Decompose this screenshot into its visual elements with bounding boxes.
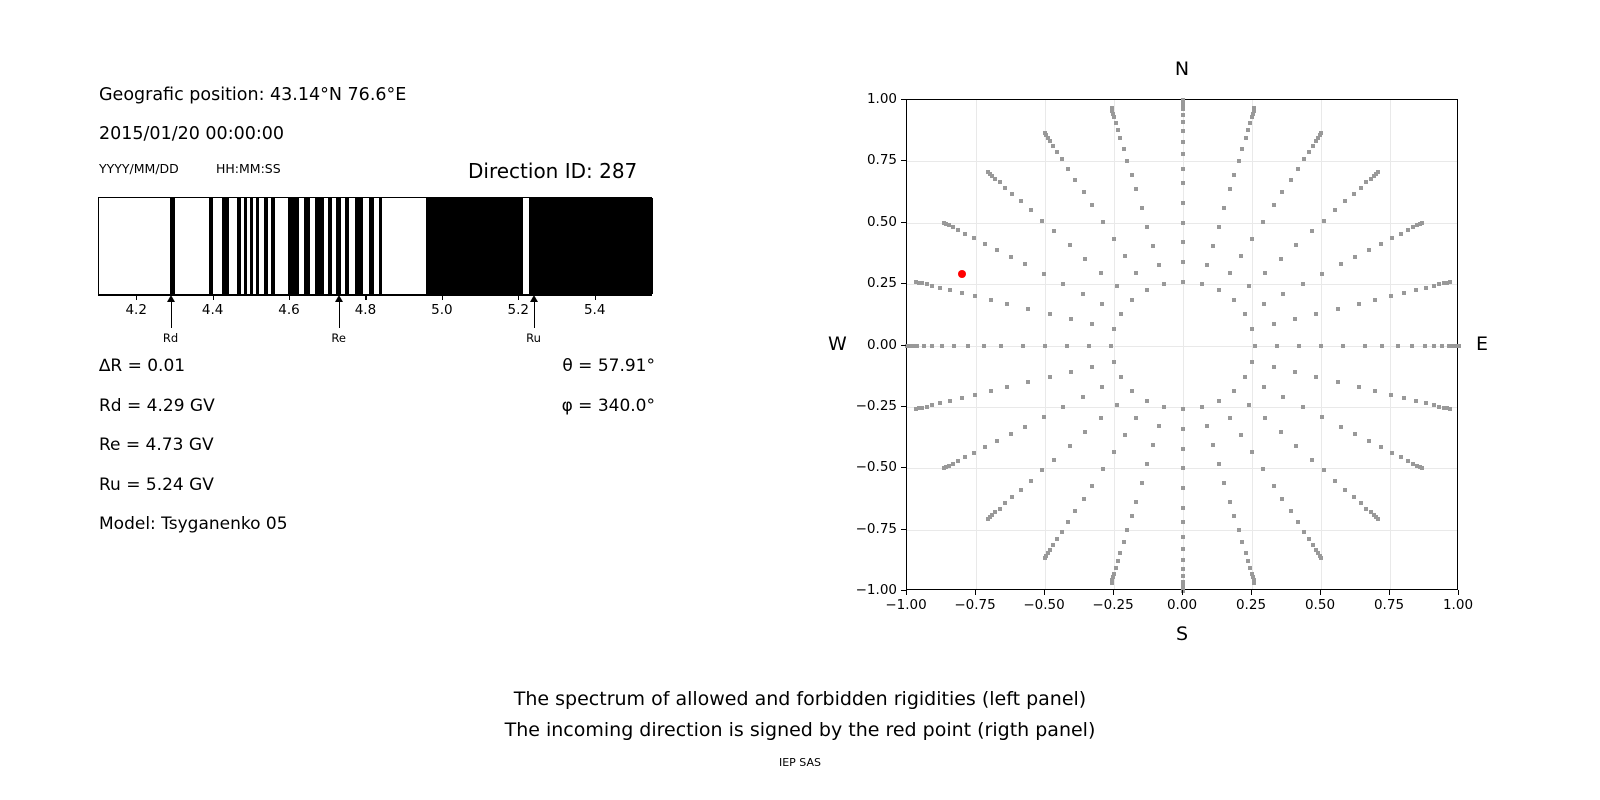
- direction-point: [963, 455, 967, 459]
- spectrum-x-tick-label: 5.0: [431, 302, 452, 318]
- direction-point: [1240, 540, 1244, 544]
- direction-point: [1406, 228, 1410, 232]
- rigidity-spectrum-plot: [98, 197, 652, 295]
- direction-point: [1420, 221, 1424, 225]
- direction-point: [1026, 307, 1030, 311]
- direction-point: [1068, 243, 1072, 247]
- direction-point: [930, 284, 934, 288]
- map-x-tick: [1044, 590, 1045, 595]
- direction-point: [1424, 401, 1428, 405]
- direction-point: [1181, 547, 1185, 551]
- direction-point: [1339, 262, 1343, 266]
- direction-point: [956, 459, 960, 463]
- direction-point: [1162, 405, 1166, 409]
- direction-point: [1181, 574, 1185, 578]
- direction-point: [1232, 389, 1236, 393]
- spectrum-x-tick-label: 4.8: [355, 302, 376, 318]
- direction-point: [1114, 121, 1118, 125]
- direction-point: [1320, 415, 1324, 419]
- spectrum-x-tick: [136, 295, 137, 300]
- direction-point: [1181, 486, 1185, 490]
- direction-point: [995, 439, 999, 443]
- parameter-item: Re = 4.73 GV: [99, 435, 214, 455]
- direction-point: [1314, 312, 1318, 316]
- direction-point: [1217, 288, 1221, 292]
- direction-point: [1432, 403, 1436, 407]
- map-y-tick-label: 0.25: [867, 275, 897, 291]
- direction-point: [1181, 140, 1185, 144]
- direction-point: [1272, 484, 1276, 488]
- direction-point: [1248, 121, 1252, 125]
- forbidden-band: [529, 198, 653, 294]
- direction-point: [1069, 317, 1073, 321]
- map-x-tick-label: −0.25: [1092, 597, 1133, 613]
- direction-point: [1250, 360, 1254, 364]
- direction-point: [1090, 484, 1094, 488]
- map-y-tick-label: 0.50: [867, 214, 897, 230]
- map-x-tick-label: −0.75: [954, 597, 995, 613]
- direction-point: [999, 344, 1003, 348]
- direction-point: [1319, 344, 1323, 348]
- forbidden-band: [256, 198, 259, 294]
- direction-point: [973, 294, 977, 298]
- direction-point: [1357, 385, 1361, 389]
- direction-point: [1205, 263, 1209, 267]
- direction-point: [1181, 447, 1185, 451]
- forbidden-band: [345, 198, 349, 294]
- direction-point: [1281, 292, 1285, 296]
- direction-point: [1162, 282, 1166, 286]
- direction-point: [1250, 450, 1254, 454]
- direction-point: [1289, 509, 1293, 513]
- marker-label-re: Re: [331, 331, 346, 345]
- forbidden-band: [315, 198, 325, 294]
- compass-east-label: E: [1476, 333, 1488, 355]
- map-x-tick: [1389, 590, 1390, 595]
- direction-point: [1297, 344, 1301, 348]
- direction-point: [1402, 396, 1406, 400]
- direction-id-label: Direction ID: 287: [468, 159, 637, 183]
- direction-point: [1314, 139, 1318, 143]
- direction-point: [1250, 237, 1254, 241]
- direction-point: [1222, 481, 1226, 485]
- direction-point: [930, 344, 934, 348]
- direction-point: [1055, 150, 1059, 154]
- direction-point: [1021, 344, 1025, 348]
- direction-point: [1123, 433, 1127, 437]
- direction-point: [1399, 455, 1403, 459]
- direction-point: [1432, 284, 1436, 288]
- marker-arrow-head: [335, 295, 343, 302]
- direction-point: [1250, 115, 1254, 119]
- direction-point: [989, 389, 993, 393]
- forbidden-band: [336, 198, 341, 294]
- direction-point: [1246, 559, 1250, 563]
- direction-point: [1055, 537, 1059, 541]
- direction-point: [1211, 244, 1215, 248]
- direction-point: [1122, 540, 1126, 544]
- direction-point: [1157, 263, 1161, 267]
- direction-point: [914, 407, 918, 411]
- direction-point: [1247, 284, 1251, 288]
- direction-point: [1232, 173, 1236, 177]
- direction-point: [1253, 344, 1257, 348]
- map-x-tick: [1113, 590, 1114, 595]
- marker-label-ru: Ru: [526, 331, 541, 345]
- direction-point: [1448, 280, 1452, 284]
- direction-point: [1250, 327, 1254, 331]
- direction-point: [925, 282, 929, 286]
- map-x-tick: [1458, 590, 1459, 595]
- direction-point: [998, 180, 1002, 184]
- map-y-tick: [901, 406, 906, 407]
- spectrum-axis-line: [98, 295, 652, 296]
- direction-point: [1043, 344, 1047, 348]
- direction-point: [1353, 255, 1357, 259]
- horizontal-gridline: [907, 530, 1457, 531]
- direction-point: [1122, 147, 1126, 151]
- direction-point: [1112, 327, 1116, 331]
- spectrum-x-tick: [365, 295, 366, 300]
- map-x-tick-label: 0.75: [1374, 597, 1404, 613]
- direction-point: [1026, 380, 1030, 384]
- direction-point: [1320, 272, 1324, 276]
- direction-point: [1019, 488, 1023, 492]
- direction-point: [1272, 365, 1276, 369]
- direction-point: [938, 401, 942, 405]
- direction-point: [1311, 543, 1315, 547]
- direction-point: [1217, 225, 1221, 229]
- direction-point: [1005, 385, 1009, 389]
- direction-point: [1217, 462, 1221, 466]
- direction-point: [1065, 344, 1069, 348]
- direction-point: [1272, 203, 1276, 207]
- direction-point: [1367, 248, 1371, 252]
- marker-arrow-head: [167, 295, 175, 302]
- forbidden-band: [271, 198, 274, 294]
- direction-point: [1414, 399, 1418, 403]
- direction-point: [1090, 365, 1094, 369]
- direction-point: [1217, 399, 1221, 403]
- direction-point: [1289, 178, 1293, 182]
- direction-point: [1118, 136, 1122, 140]
- forbidden-band: [426, 198, 523, 294]
- direction-point: [1134, 500, 1138, 504]
- direction-point: [1048, 375, 1052, 379]
- direction-point: [942, 466, 946, 470]
- direction-point: [951, 225, 955, 229]
- direction-point: [1333, 208, 1337, 212]
- direction-point: [1181, 98, 1185, 102]
- direction-point: [1066, 167, 1070, 171]
- direction-point: [1243, 375, 1247, 379]
- direction-point: [940, 344, 944, 348]
- direction-point: [1310, 229, 1314, 233]
- direction-point: [1181, 427, 1185, 431]
- direction-point: [1151, 443, 1155, 447]
- map-y-tick: [901, 222, 906, 223]
- direction-point: [1280, 190, 1284, 194]
- direction-point: [1145, 225, 1149, 229]
- direction-point: [1373, 298, 1377, 302]
- direction-point: [1389, 294, 1393, 298]
- direction-point: [1364, 180, 1368, 184]
- direction-point: [948, 399, 952, 403]
- direction-point: [1181, 107, 1185, 111]
- direction-point: [998, 507, 1002, 511]
- direction-point: [1310, 458, 1314, 462]
- direction-point: [1181, 167, 1185, 171]
- direction-point: [1402, 291, 1406, 295]
- direction-point: [1181, 407, 1185, 411]
- direction-point: [1023, 425, 1027, 429]
- direction-point: [1279, 430, 1283, 434]
- map-y-tick: [901, 283, 906, 284]
- direction-point: [930, 403, 934, 407]
- direction-point: [1061, 282, 1065, 286]
- horizontal-gridline: [907, 161, 1457, 162]
- direction-map-plot: [906, 99, 1458, 590]
- direction-point: [914, 280, 918, 284]
- marker-arrow-head: [530, 295, 538, 302]
- direction-point: [1343, 488, 1347, 492]
- direction-point: [925, 405, 929, 409]
- direction-point: [1222, 206, 1226, 210]
- direction-point: [1115, 284, 1119, 288]
- direction-point: [1252, 106, 1256, 110]
- direction-point: [1237, 159, 1241, 163]
- direction-point: [1157, 424, 1161, 428]
- direction-point: [986, 517, 990, 521]
- direction-point: [1140, 206, 1144, 210]
- direction-point: [972, 236, 976, 240]
- forbidden-band: [379, 198, 382, 294]
- direction-point: [983, 242, 987, 246]
- direction-point: [1069, 370, 1073, 374]
- map-x-tick-label: 0.25: [1236, 597, 1266, 613]
- direction-point: [942, 221, 946, 225]
- direction-point: [1447, 344, 1451, 348]
- forbidden-band: [369, 198, 374, 294]
- direction-point: [1237, 528, 1241, 532]
- forbidden-band: [288, 198, 299, 294]
- direction-point: [1343, 199, 1347, 203]
- direction-point: [1181, 506, 1185, 510]
- direction-point: [1181, 567, 1185, 571]
- map-y-tick-label: −0.75: [856, 521, 897, 537]
- direction-point: [1119, 375, 1123, 379]
- direction-point: [1294, 243, 1298, 247]
- footer-label: IEP SAS: [0, 756, 1600, 769]
- direction-point: [1406, 459, 1410, 463]
- direction-point: [1424, 286, 1428, 290]
- vertical-gridline: [1183, 100, 1184, 589]
- parameter-item: Model: Tsyganenko 05: [99, 514, 288, 534]
- map-x-tick-label: 0.50: [1305, 597, 1335, 613]
- direction-point: [1319, 131, 1323, 135]
- direction-point: [1423, 344, 1427, 348]
- map-y-tick-label: −1.00: [856, 582, 897, 598]
- direction-point: [1357, 302, 1361, 306]
- direction-point: [1043, 556, 1047, 560]
- direction-point: [1048, 312, 1052, 316]
- direction-point: [1228, 271, 1232, 275]
- forbidden-band: [222, 198, 229, 294]
- direction-point: [1082, 190, 1086, 194]
- spectrum-x-tick: [213, 295, 214, 300]
- direction-point: [1293, 370, 1297, 374]
- direction-point: [1396, 344, 1400, 348]
- direction-point: [1083, 257, 1087, 261]
- direction-point: [956, 228, 960, 232]
- marker-label-rd: Rd: [163, 331, 178, 345]
- direction-point: [938, 286, 942, 290]
- direction-point: [1134, 271, 1138, 275]
- direction-point: [915, 344, 919, 348]
- direction-point: [1181, 120, 1185, 124]
- vertical-gridline: [1390, 100, 1391, 589]
- direction-point: [1376, 170, 1380, 174]
- parameter-item: Rd = 4.29 GV: [99, 396, 215, 416]
- direction-point: [1293, 317, 1297, 321]
- date-format-hint: YYYY/MM/DD: [99, 161, 179, 176]
- direction-point: [986, 170, 990, 174]
- direction-point: [1399, 232, 1403, 236]
- direction-point: [1262, 302, 1266, 306]
- map-y-tick-label: 1.00: [867, 91, 897, 107]
- map-y-tick: [901, 345, 906, 346]
- direction-point: [1029, 479, 1033, 483]
- direction-point: [1100, 302, 1104, 306]
- direction-point: [1322, 219, 1326, 223]
- direction-point: [1302, 157, 1306, 161]
- angle-parameter-item: φ = 340.0°: [562, 396, 655, 416]
- direction-point: [1339, 425, 1343, 429]
- direction-point: [1376, 517, 1380, 521]
- direction-point: [1101, 220, 1105, 224]
- forbidden-band: [304, 198, 310, 294]
- direction-point: [1040, 219, 1044, 223]
- direction-point: [1003, 186, 1007, 190]
- direction-point: [1068, 444, 1072, 448]
- direction-point: [966, 344, 970, 348]
- map-x-tick-label: −1.00: [885, 597, 926, 613]
- direction-point: [1296, 520, 1300, 524]
- direction-point: [1252, 581, 1256, 585]
- time-format-hint: HH:MM:SS: [216, 161, 281, 176]
- direction-point: [1280, 497, 1284, 501]
- direction-point: [948, 288, 952, 292]
- direction-point: [1051, 543, 1055, 547]
- marker-arrow-shaft: [339, 300, 340, 328]
- spectrum-x-tick: [442, 295, 443, 300]
- direction-point: [1151, 244, 1155, 248]
- forbidden-band: [244, 198, 247, 294]
- direction-point: [1145, 462, 1149, 466]
- direction-point: [1130, 298, 1134, 302]
- direction-point: [1181, 181, 1185, 185]
- direction-point: [1181, 113, 1185, 117]
- direction-point: [1123, 254, 1127, 258]
- direction-point: [1380, 344, 1384, 348]
- map-x-tick-label: 1.00: [1443, 597, 1473, 613]
- selected-direction-point[interactable]: [958, 270, 966, 278]
- direction-point: [1261, 467, 1265, 471]
- map-x-tick: [975, 590, 976, 595]
- forbidden-band: [328, 198, 332, 294]
- caption-line-2: The incoming direction is signed by the …: [0, 719, 1600, 741]
- direction-point: [1003, 501, 1007, 505]
- direction-point: [1099, 416, 1103, 420]
- direction-point: [1181, 535, 1185, 539]
- direction-point: [1279, 257, 1283, 261]
- direction-point: [1101, 467, 1105, 471]
- direction-point: [1353, 432, 1357, 436]
- direction-point: [1359, 186, 1363, 190]
- direction-point: [1301, 282, 1305, 286]
- vertical-gridline: [976, 100, 977, 589]
- spectrum-x-tick: [518, 295, 519, 300]
- direction-point: [1145, 399, 1149, 403]
- direction-point: [1061, 405, 1065, 409]
- direction-point: [960, 396, 964, 400]
- direction-point: [1181, 201, 1185, 205]
- direction-point: [995, 248, 999, 252]
- direction-point: [1052, 229, 1056, 233]
- angle-parameter-item: θ = 57.91°: [562, 356, 655, 376]
- forbidden-band: [209, 198, 214, 294]
- direction-point: [1109, 344, 1113, 348]
- direction-point: [1352, 192, 1356, 196]
- direction-point: [1275, 344, 1279, 348]
- direction-point: [1232, 298, 1236, 302]
- direction-point: [1363, 344, 1367, 348]
- map-x-tick: [1320, 590, 1321, 595]
- direction-point: [1248, 566, 1252, 570]
- spectrum-x-tick-label: 4.2: [125, 302, 146, 318]
- direction-point: [1090, 322, 1094, 326]
- compass-west-label: W: [828, 333, 847, 355]
- direction-point: [1205, 424, 1209, 428]
- map-y-tick-label: 0.00: [867, 337, 897, 353]
- direction-point: [1302, 530, 1306, 534]
- direction-point: [1181, 240, 1185, 244]
- direction-point: [1281, 395, 1285, 399]
- map-y-tick: [901, 160, 906, 161]
- direction-point: [952, 344, 956, 348]
- direction-point: [1263, 271, 1267, 275]
- direction-point: [1261, 220, 1265, 224]
- direction-point: [1010, 495, 1014, 499]
- direction-point: [1090, 203, 1094, 207]
- direction-point: [1048, 139, 1052, 143]
- direction-point: [1099, 271, 1103, 275]
- parameter-item: Ru = 5.24 GV: [99, 475, 214, 495]
- caption-line-1: The spectrum of allowed and forbidden ri…: [0, 688, 1600, 710]
- direction-point: [1114, 566, 1118, 570]
- direction-point: [1110, 106, 1114, 110]
- direction-point: [1081, 395, 1085, 399]
- direction-point: [951, 462, 955, 466]
- direction-point: [963, 232, 967, 236]
- map-x-tick: [1182, 590, 1183, 595]
- direction-point: [1119, 312, 1123, 316]
- forbidden-band: [355, 198, 364, 294]
- direction-point: [1440, 344, 1444, 348]
- direction-point: [1319, 556, 1323, 560]
- direction-point: [1239, 254, 1243, 258]
- direction-point: [1112, 115, 1116, 119]
